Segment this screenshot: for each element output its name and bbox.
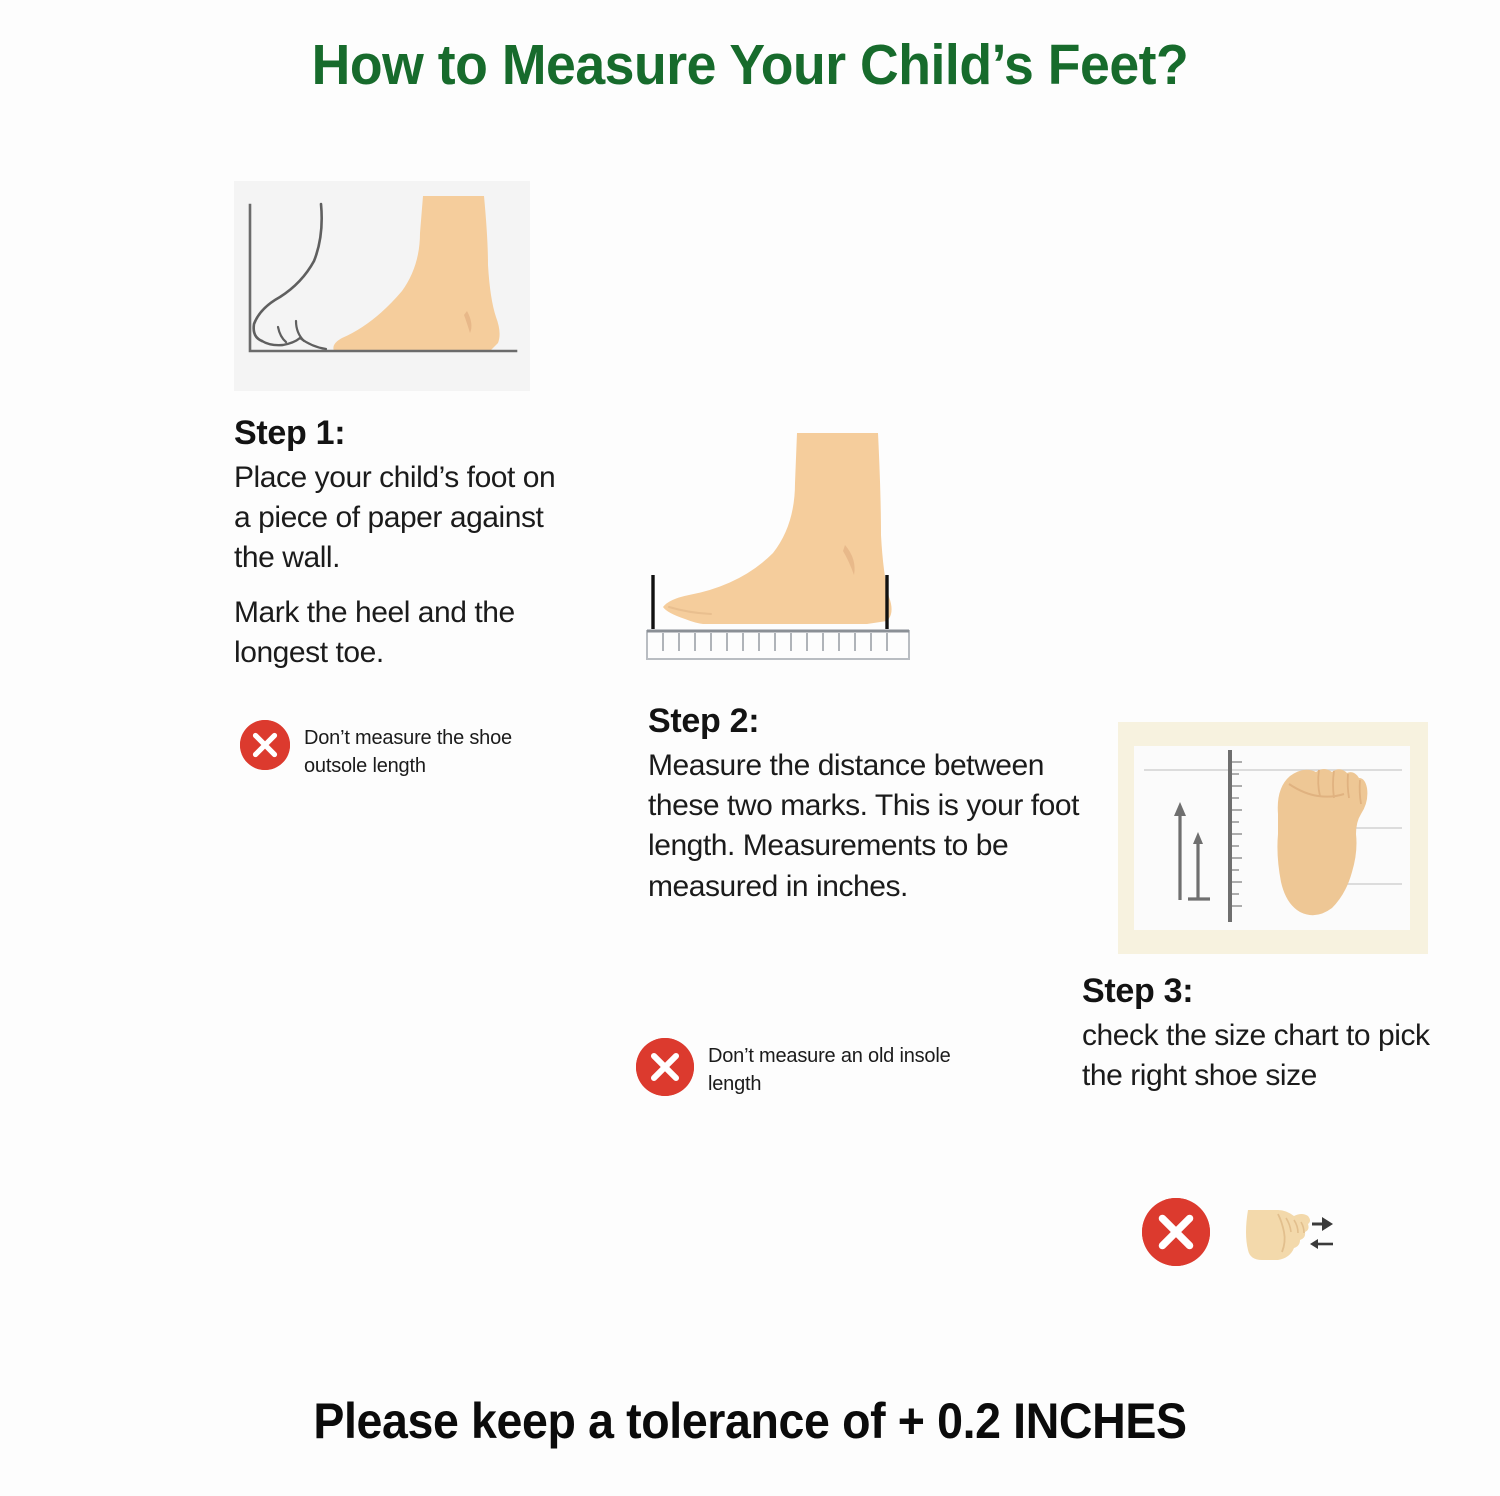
x-mark-icon: [1142, 1198, 1210, 1266]
arrow-right-icon: [1312, 1217, 1333, 1231]
tolerance-note: Please keep a tolerance of + 0.2 INCHES: [53, 1392, 1448, 1450]
step-3-paragraph-1: check the size chart to pick the right s…: [1082, 1016, 1442, 1096]
step-1-warning-text: Don’t measure the shoe outsole length: [304, 720, 540, 781]
foot-top-view-icon: [1234, 1200, 1334, 1266]
step-2-paragraph-1: Measure the distance between these two m…: [648, 746, 1098, 907]
step-3-block: Step 3: check the size chart to pick the…: [1082, 972, 1442, 1096]
step-3-warning: [1142, 1198, 1402, 1271]
x-mark-icon: [636, 1038, 694, 1096]
step-1-warning: Don’t measure the shoe outsole length: [240, 720, 540, 781]
step-2-warning: Don’t measure an old insole length: [636, 1038, 956, 1099]
step-1-body: Place your child’s foot on a piece of pa…: [234, 458, 564, 673]
foot-side-view-against-wall-icon: [234, 181, 530, 391]
step-2-illustration: [645, 425, 935, 665]
warning-badge-circle: [636, 1038, 694, 1096]
step-3-heading: Step 3:: [1082, 972, 1442, 1011]
foot-squeeze-illustration: [1224, 1198, 1334, 1271]
step-2-block: Step 2: Measure the distance between the…: [648, 702, 1098, 907]
foot-side-view-with-ruler-icon: [645, 425, 935, 665]
size-guide-page: How to Measure Your Child’s Feet? Step 1…: [0, 0, 1500, 1496]
step-2-heading: Step 2:: [648, 702, 1098, 741]
step-3-body: check the size chart to pick the right s…: [1082, 1016, 1442, 1096]
step-3-illustration: [1118, 722, 1428, 954]
arrow-left-icon: [1310, 1239, 1333, 1249]
warning-badge-circle: [1142, 1198, 1210, 1266]
step-2-warning-text: Don’t measure an old insole length: [708, 1038, 956, 1099]
step-1-paragraph-2: Mark the heel and the longest toe.: [234, 593, 564, 673]
step-1-block: Step 1: Place your child’s foot on a pie…: [234, 414, 564, 673]
step-1-paragraph-1: Place your child’s foot on a piece of pa…: [234, 458, 564, 579]
foot-sole-view-with-scale-icon: [1118, 722, 1428, 954]
step-1-illustration: [234, 181, 530, 391]
page-title: How to Measure Your Child’s Feet?: [45, 32, 1455, 98]
warning-badge-circle: [240, 720, 290, 770]
step-1-heading: Step 1:: [234, 414, 564, 453]
x-mark-icon: [240, 720, 290, 770]
step-2-body: Measure the distance between these two m…: [648, 746, 1098, 907]
